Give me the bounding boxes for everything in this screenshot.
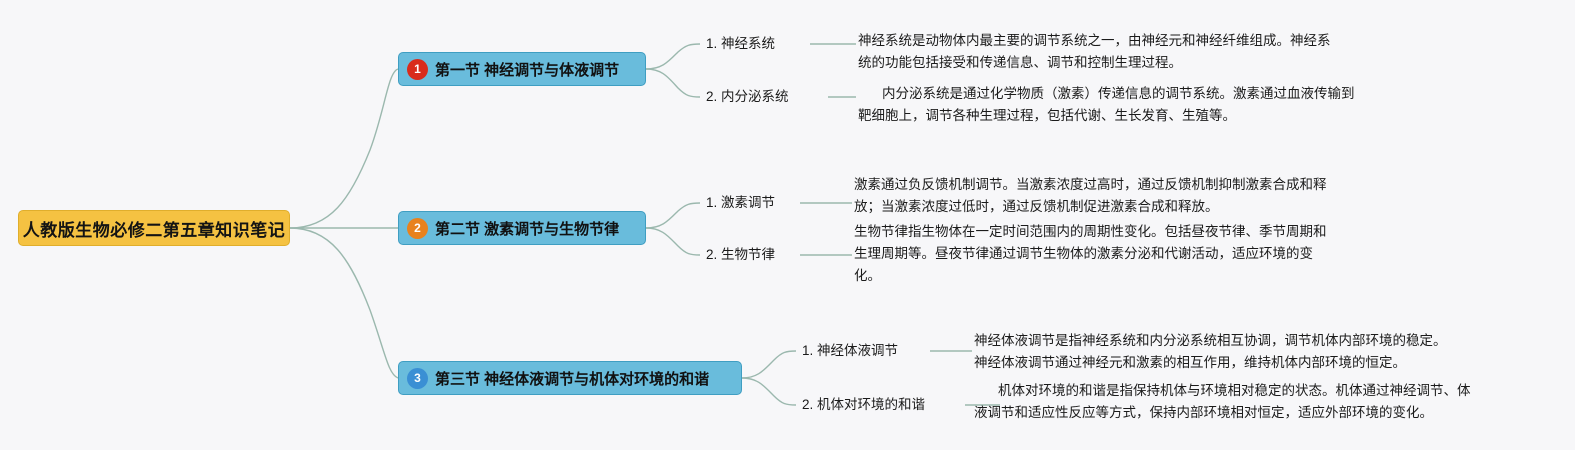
description-line: 激素通过负反馈机制调节。当激素浓度过高时，通过反馈机制抑制激素合成和释 bbox=[854, 174, 1372, 196]
edge-ch1-sub2 bbox=[646, 69, 700, 97]
description-3-2: 机体对环境的和谐是指保持机体与环境相对稳定的状态。机体通过神经调节、体 液调节和… bbox=[974, 380, 1482, 424]
description-line: 靶细胞上，调节各种生理过程，包括代谢、生长发育、生殖等。 bbox=[858, 105, 1376, 127]
subtopic-2-2[interactable]: 2. 生物节律 bbox=[706, 247, 775, 263]
branch-node-2[interactable]: 2 第二节 激素调节与生物节律 bbox=[398, 211, 646, 245]
edge-ch1-sub1 bbox=[646, 44, 700, 69]
description-1-2: 内分泌系统是通过化学物质（激素）传递信息的调节系统。激素通过血液传输到 靶细胞上… bbox=[858, 83, 1376, 127]
subtopic-1-2[interactable]: 2. 内分泌系统 bbox=[706, 89, 789, 105]
subtopic-2-1[interactable]: 1. 激素调节 bbox=[706, 195, 775, 211]
root-label: 人教版生物必修二第五章知识笔记 bbox=[23, 216, 286, 241]
branch-label-1: 第一节 神经调节与体液调节 bbox=[435, 59, 619, 80]
description-line: 神经系统是动物体内最主要的调节系统之一，由神经元和神经纤维组成。神经系 bbox=[858, 30, 1376, 52]
description-1-1: 神经系统是动物体内最主要的调节系统之一，由神经元和神经纤维组成。神经系 统的功能… bbox=[858, 30, 1376, 74]
description-line: 统的功能包括接受和传递信息、调节和控制生理过程。 bbox=[858, 52, 1376, 74]
edge-root-ch3 bbox=[290, 228, 398, 378]
edge-ch2-sub1 bbox=[646, 203, 700, 228]
branch-node-1[interactable]: 1 第一节 神经调节与体液调节 bbox=[398, 52, 646, 86]
mindmap-canvas: 人教版生物必修二第五章知识笔记 1 第一节 神经调节与体液调节 1. 神经系统 … bbox=[0, 0, 1575, 450]
description-line: 液调节和适应性反应等方式，保持内部环境相对恒定，适应外部环境的变化。 bbox=[974, 402, 1482, 424]
description-line: 放；当激素浓度过低时，通过反馈机制促进激素合成和释放。 bbox=[854, 196, 1372, 218]
description-line: 机体对环境的和谐是指保持机体与环境相对稳定的状态。机体通过神经调节、体 bbox=[974, 380, 1482, 402]
description-2-2: 生物节律指生物体在一定时间范围内的周期性变化。包括昼夜节律、季节周期和 生理周期… bbox=[854, 221, 1372, 287]
branch-badge-3: 3 bbox=[407, 368, 428, 389]
edge-ch3-sub2 bbox=[742, 378, 796, 405]
edge-root-ch1 bbox=[290, 69, 398, 228]
description-line: 生物节律指生物体在一定时间范围内的周期性变化。包括昼夜节律、季节周期和 bbox=[854, 221, 1372, 243]
description-line: 神经体液调节通过神经元和激素的相互作用，维持机体内部环境的恒定。 bbox=[974, 352, 1482, 374]
subtopic-3-2[interactable]: 2. 机体对环境的和谐 bbox=[802, 397, 925, 413]
description-line: 生理周期等。昼夜节律通过调节生物体的激素分泌和代谢活动，适应环境的变 bbox=[854, 243, 1372, 265]
subtopic-1-1[interactable]: 1. 神经系统 bbox=[706, 36, 775, 52]
root-node[interactable]: 人教版生物必修二第五章知识笔记 bbox=[18, 210, 290, 246]
description-3-1: 神经体液调节是指神经系统和内分泌系统相互协调，调节机体内部环境的稳定。 神经体液… bbox=[974, 330, 1482, 374]
description-line: 化。 bbox=[854, 265, 1372, 287]
description-line: 神经体液调节是指神经系统和内分泌系统相互协调，调节机体内部环境的稳定。 bbox=[974, 330, 1482, 352]
branch-label-2: 第二节 激素调节与生物节律 bbox=[435, 218, 619, 239]
subtopic-3-1[interactable]: 1. 神经体液调节 bbox=[802, 343, 898, 359]
branch-node-3[interactable]: 3 第三节 神经体液调节与机体对环境的和谐 bbox=[398, 361, 742, 395]
description-line: 内分泌系统是通过化学物质（激素）传递信息的调节系统。激素通过血液传输到 bbox=[858, 83, 1376, 105]
branch-badge-2: 2 bbox=[407, 218, 428, 239]
branch-badge-1: 1 bbox=[407, 59, 428, 80]
description-2-1: 激素通过负反馈机制调节。当激素浓度过高时，通过反馈机制抑制激素合成和释 放；当激… bbox=[854, 174, 1372, 218]
branch-label-3: 第三节 神经体液调节与机体对环境的和谐 bbox=[435, 368, 709, 389]
edge-ch3-sub1 bbox=[742, 351, 796, 378]
edge-ch2-sub2 bbox=[646, 228, 700, 255]
